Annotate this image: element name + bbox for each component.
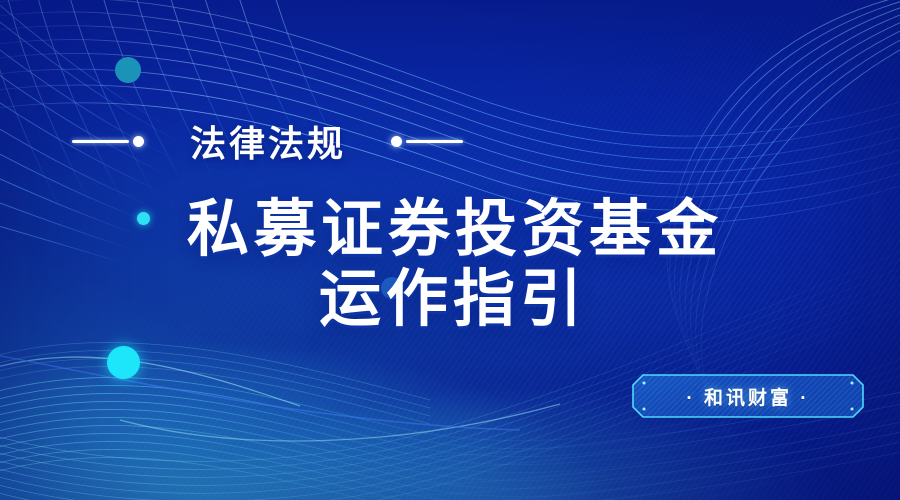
- headline-line-2: 运作指引: [0, 268, 900, 332]
- left-rule-dot-icon: [133, 136, 144, 147]
- left-rule-decoration: [72, 136, 144, 147]
- teal-dot-icon: [115, 57, 141, 83]
- promo-banner: 法律法规 私募证券投资基金 运作指引: [0, 0, 900, 500]
- right-rule-decoration: [391, 136, 463, 147]
- right-rule-dot-icon: [391, 136, 402, 147]
- headline-block: 私募证券投资基金 运作指引: [0, 198, 900, 332]
- category-row: 法律法规: [0, 110, 560, 172]
- brand-badge: · 和讯财富 ·: [632, 374, 864, 418]
- right-rule-bar: [406, 140, 463, 143]
- brand-badge-label: · 和讯财富 ·: [632, 374, 864, 418]
- left-rule-bar: [72, 140, 129, 143]
- headline-line-1: 私募证券投资基金: [0, 198, 900, 262]
- category-label: 法律法规: [190, 115, 346, 167]
- cyan-dot-big-icon: [107, 346, 140, 379]
